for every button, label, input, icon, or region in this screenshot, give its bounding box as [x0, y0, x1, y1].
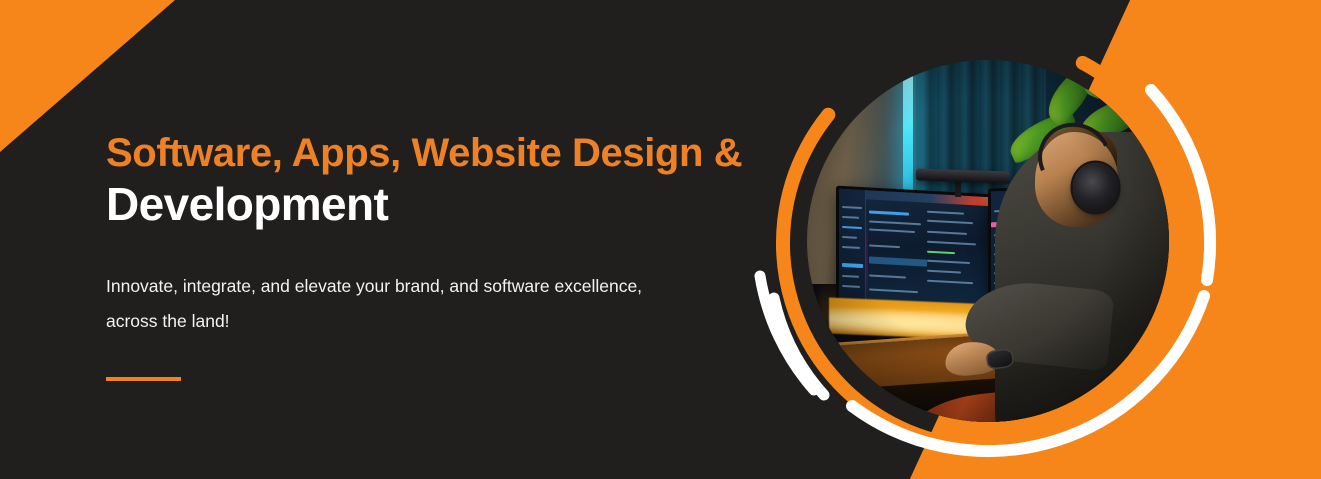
orange-ring-arc — [711, 0, 1263, 479]
hero-subtitle: Innovate, integrate, and elevate your br… — [106, 269, 686, 339]
hero-media — [752, 8, 1222, 478]
accent-divider — [106, 377, 181, 381]
page-title-main: Development — [106, 179, 746, 231]
hero-text-column: Software, Apps, Website Design & Develop… — [106, 132, 746, 381]
top-left-orange-wedge — [0, 0, 175, 152]
decorative-rings — [752, 8, 1222, 478]
page-title-accent: Software, Apps, Website Design & — [106, 132, 746, 175]
hero-banner: Software, Apps, Website Design & Develop… — [0, 0, 1321, 479]
